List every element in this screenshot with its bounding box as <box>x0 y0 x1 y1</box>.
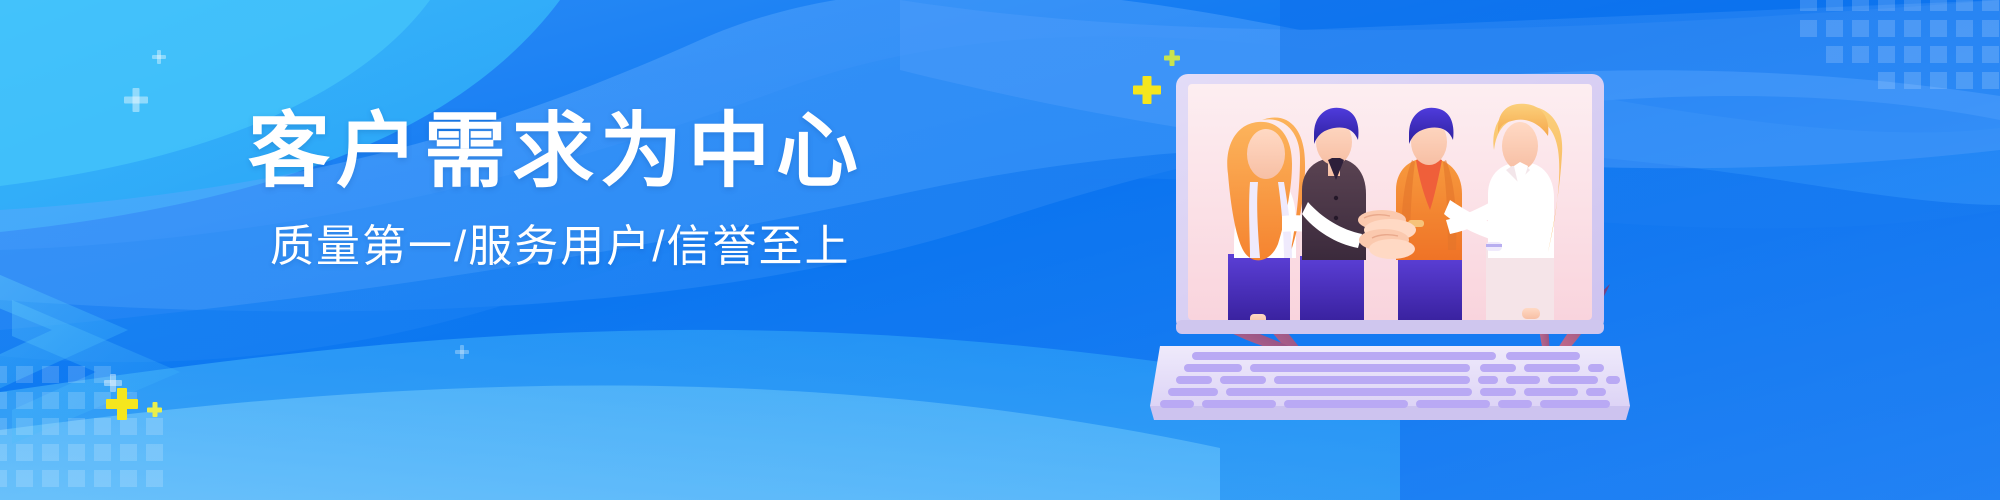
laptop-lid-lip <box>1176 320 1604 334</box>
banner-text-block: 客户需求为中心 质量第一/服务用户/信誉至上 <box>248 104 868 276</box>
page-title: 客户需求为中心 <box>248 104 868 200</box>
promo-banner: 客户需求为中心 质量第一/服务用户/信誉至上 <box>0 0 2000 500</box>
laptop-front-edge <box>1150 406 1630 420</box>
laptop-team-illustration <box>1150 58 1630 458</box>
page-subtitle: 质量第一/服务用户/信誉至上 <box>270 218 868 276</box>
